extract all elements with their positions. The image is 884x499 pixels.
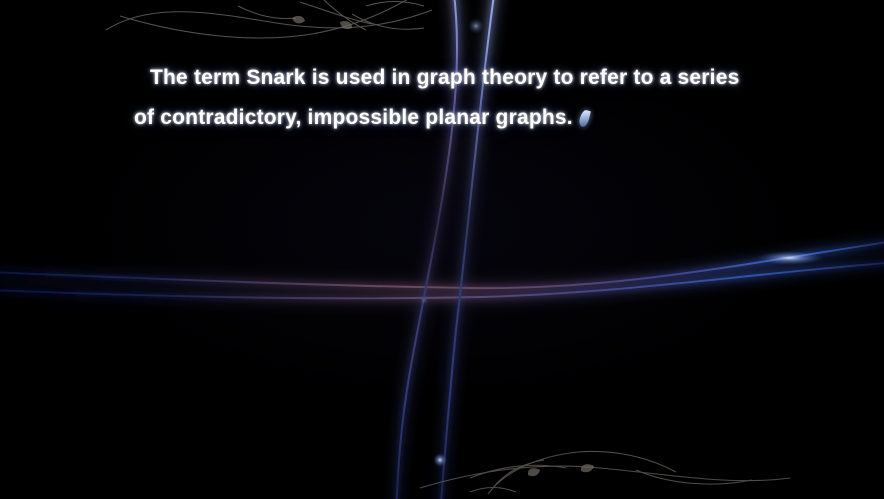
lower-strand-spark	[433, 453, 447, 467]
right-crossing-glow	[756, 251, 824, 265]
top-crossing-glow	[468, 18, 484, 34]
visual-novel-scene: The term Snark is used in graph theory t…	[0, 0, 884, 499]
teardrop-advance-marker-icon[interactable]	[578, 109, 591, 128]
filigree-top	[106, 0, 432, 38]
dialogue-line-1: The term Snark is used in graph theory t…	[150, 58, 884, 98]
dialogue-line-2-wrapper: of contradictory, impossible planar grap…	[134, 98, 884, 138]
dialogue-text-block: The term Snark is used in graph theory t…	[0, 58, 884, 138]
dialogue-line-2: of contradictory, impossible planar grap…	[134, 106, 573, 129]
filigree-bottom	[420, 451, 790, 494]
mid-strand-spark	[419, 295, 429, 305]
